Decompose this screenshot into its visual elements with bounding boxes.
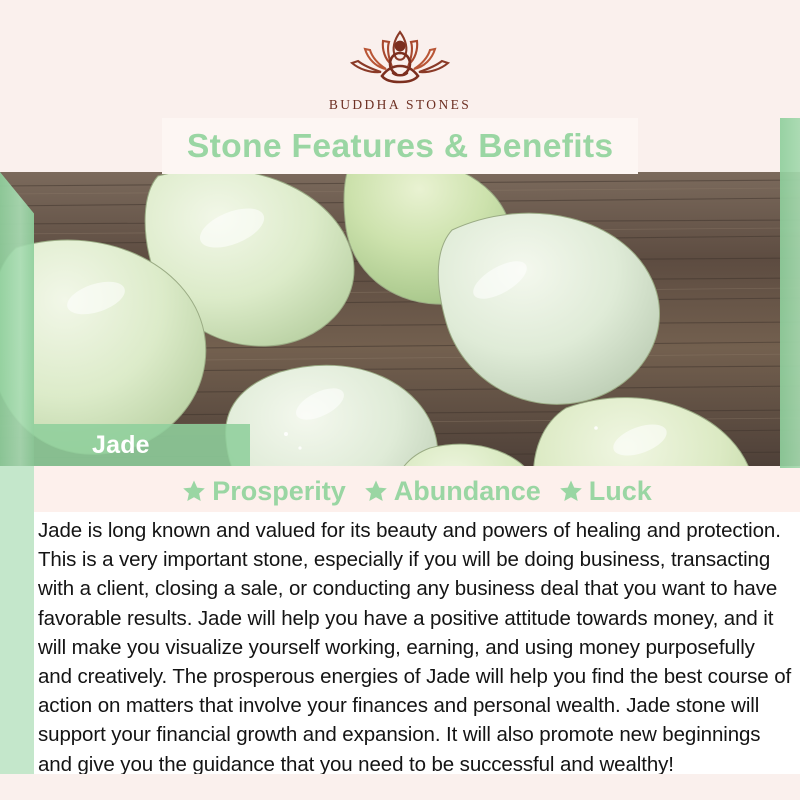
title-banner: Stone Features & Benefits	[162, 118, 638, 174]
brand-logo: BUDDHA STONES	[325, 22, 475, 113]
benefit-label: Prosperity	[212, 476, 346, 507]
description-text: Jade is long known and valued for its be…	[38, 516, 792, 779]
star-icon	[364, 479, 388, 503]
benefit-item-abundance: Abundance	[364, 476, 541, 507]
benefits-row: Prosperity Abundance Luck	[34, 466, 800, 512]
decor-strip-left	[0, 466, 34, 786]
star-icon	[182, 479, 206, 503]
benefit-label: Abundance	[394, 476, 541, 507]
benefit-item-luck: Luck	[559, 476, 652, 507]
stone-name-band: Jade	[34, 424, 250, 466]
benefit-item-prosperity: Prosperity	[182, 476, 346, 507]
stone-name-label: Jade	[92, 431, 150, 460]
footer-spacer	[0, 774, 800, 800]
lotus-meditation-icon	[325, 22, 475, 94]
star-icon	[559, 479, 583, 503]
description-panel: Jade is long known and valued for its be…	[34, 512, 800, 774]
stone-photo	[0, 172, 800, 466]
benefit-label: Luck	[589, 476, 652, 507]
page-title: Stone Features & Benefits	[187, 127, 614, 165]
brand-name: BUDDHA STONES	[329, 97, 471, 113]
